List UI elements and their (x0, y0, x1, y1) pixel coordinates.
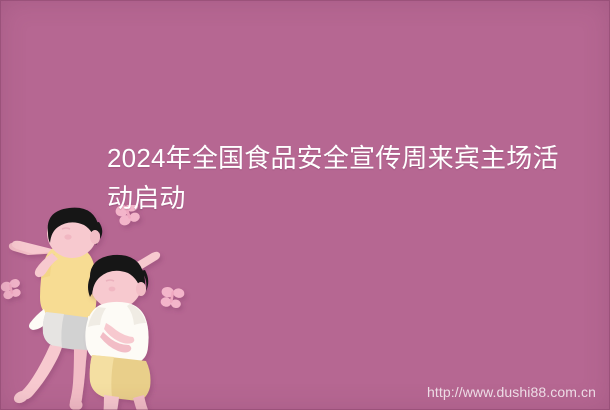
site-watermark-url: http://www.dushi88.com.cn (427, 384, 596, 400)
illustration-two-children (0, 205, 215, 410)
children-illustration-svg (0, 205, 215, 410)
butterfly-right-icon (159, 286, 185, 310)
butterfly-left-icon (0, 278, 23, 300)
article-headline: 2024年全国食品安全宣传周来宾主场活动启动 (107, 138, 577, 218)
article-thumbnail-banner: 2024年全国食品安全宣传周来宾主场活动启动 http://www.dushi8… (0, 0, 610, 410)
child-right-figure (85, 252, 163, 410)
